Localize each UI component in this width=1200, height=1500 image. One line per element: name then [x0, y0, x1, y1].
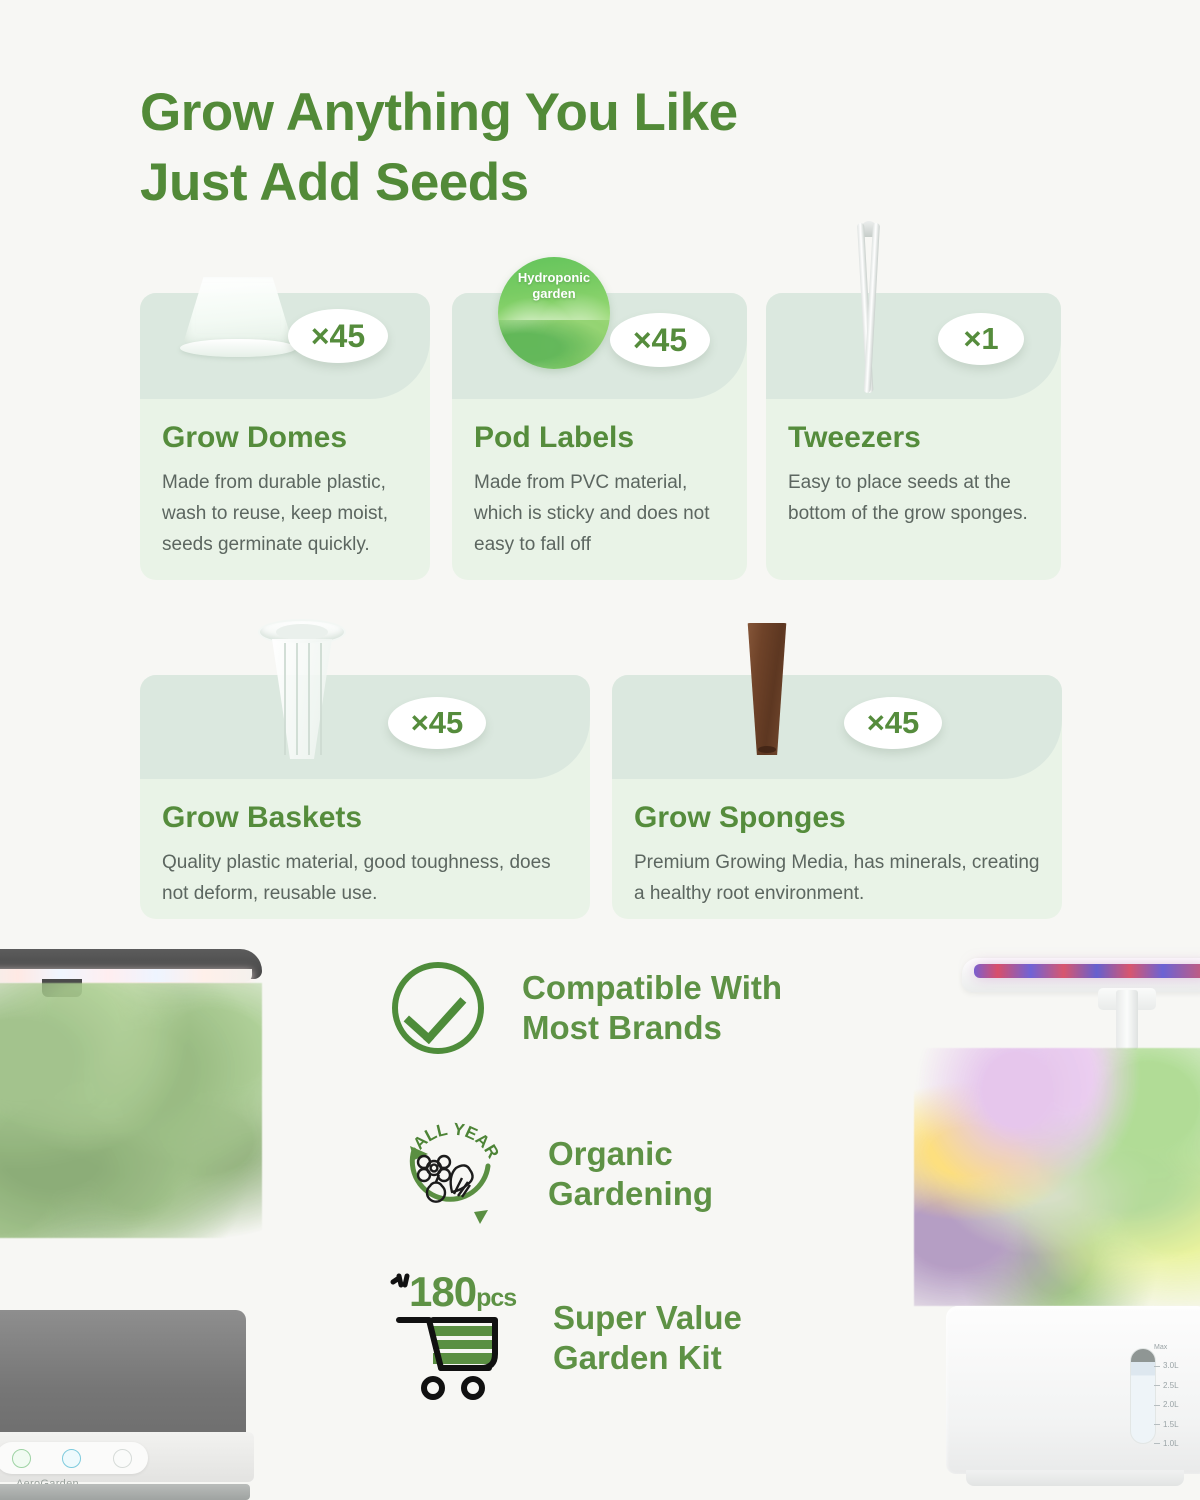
count-badge-label: ×45: [311, 318, 365, 355]
card-title: Grow Sponges: [634, 801, 1040, 834]
card-description: Made from PVC material, which is sticky …: [474, 468, 725, 560]
card-text-area: Grow Sponges Premium Growing Media, has …: [612, 801, 1062, 910]
gauge-tick-label: 2.5L: [1163, 1382, 1179, 1390]
card-pod-labels: Hydroponic garden ×45 Pod Labels Made fr…: [452, 293, 747, 580]
pod-label-icon: Hydroponic garden: [498, 257, 610, 369]
grow-dome-icon: [184, 277, 292, 351]
card-text-area: Tweezers Easy to place seeds at the bott…: [766, 421, 1061, 530]
benefit-label: Super Value Garden Kit: [553, 1298, 742, 1379]
benefit-organic: ALL YEAR Organic Gardening: [392, 1120, 713, 1228]
count-badge-label: ×45: [867, 705, 920, 741]
count-badge: ×1: [938, 313, 1024, 365]
pod-caption-line-2: garden: [532, 286, 575, 301]
count-badge: ×45: [288, 309, 388, 363]
shopping-cart-icon: 180pcs: [385, 1272, 515, 1404]
count-badge-label: ×45: [633, 322, 687, 359]
card-grow-domes: ×45 Grow Domes Made from durable plastic…: [140, 293, 430, 580]
grow-basket-icon: [258, 619, 346, 759]
control-panel[interactable]: [0, 1442, 148, 1474]
piece-count-number: 180: [409, 1268, 476, 1315]
benefit-super-value: 180pcs Super Value Garden Kit: [385, 1272, 742, 1404]
led-strip: [974, 964, 1200, 978]
count-badge: ×45: [844, 697, 942, 749]
gauge-tick-label: 1.0L: [1163, 1440, 1179, 1448]
card-tweezers: ×1 Tweezers Easy to place seeds at the b…: [766, 293, 1061, 580]
piece-count-unit: pcs: [476, 1284, 516, 1312]
card-title: Grow Baskets: [162, 801, 568, 834]
card-text-area: Pod Labels Made from PVC material, which…: [452, 421, 747, 560]
count-badge: ×45: [610, 313, 710, 367]
water-level-scale: Max 3.0L 2.5L 2.0L 1.5L 1.0L: [1154, 1344, 1198, 1448]
page-title: Grow Anything You Like Just Add Seeds: [140, 78, 1040, 218]
gauge-tick: 2.5L: [1154, 1382, 1198, 1390]
gauge-tick: 3.0L: [1154, 1362, 1198, 1370]
check-circle-icon: [392, 962, 484, 1054]
card-title: Tweezers: [788, 421, 1039, 454]
headline-line-2: Just Add Seeds: [140, 148, 1040, 218]
card-title: Pod Labels: [474, 421, 725, 454]
benefit-compatible: Compatible With Most Brands: [392, 962, 782, 1054]
pod-label-caption: Hydroponic garden: [498, 270, 610, 302]
all-year-organic-icon: ALL YEAR: [392, 1120, 510, 1228]
card-text-area: Grow Baskets Quality plastic material, g…: [140, 801, 590, 910]
water-drop-icon[interactable]: [62, 1449, 81, 1468]
product-photo-dark-unit: AeroGarden: [0, 935, 278, 1500]
card-description: Quality plastic material, good toughness…: [162, 848, 568, 910]
unit-foot: [0, 1484, 250, 1500]
card-description: Premium Growing Media, has minerals, cre…: [634, 848, 1040, 910]
lamp-stem: [1116, 990, 1138, 1050]
unit-foot: [966, 1470, 1184, 1486]
gauge-tick-label: 2.0L: [1163, 1401, 1179, 1409]
herb-plants: [914, 1048, 1200, 1306]
light-icon[interactable]: [113, 1449, 132, 1468]
card-text-area: Grow Domes Made from durable plastic, wa…: [140, 421, 430, 560]
card-description: Made from durable plastic, wash to reuse…: [162, 468, 408, 560]
unit-body: [0, 1310, 246, 1442]
led-strip: [0, 969, 252, 982]
infographic-page: Grow Anything You Like Just Add Seeds ×4…: [0, 0, 1200, 1500]
pod-caption-line-1: Hydroponic: [518, 270, 590, 285]
benefit-label: Organic Gardening: [548, 1134, 713, 1215]
card-media-area: [612, 675, 1062, 779]
tweezers-icon: [846, 223, 892, 393]
count-badge: ×45: [388, 697, 486, 749]
card-description: Easy to place seeds at the bottom of the…: [788, 468, 1039, 530]
piece-count-label: 180pcs: [409, 1268, 516, 1316]
water-level-gauge: [1130, 1348, 1156, 1444]
count-badge-label: ×45: [411, 705, 464, 741]
card-media-area: [140, 675, 590, 779]
card-grow-baskets: ×45 Grow Baskets Quality plastic materia…: [140, 675, 590, 919]
card-grow-sponges: ×45 Grow Sponges Premium Growing Media, …: [612, 675, 1062, 919]
gauge-tick-label: 1.5L: [1163, 1421, 1179, 1429]
card-title: Grow Domes: [162, 421, 408, 454]
count-badge-label: ×1: [963, 321, 998, 357]
gauge-tick: 2.0L: [1154, 1401, 1198, 1409]
headline-line-1: Grow Anything You Like: [140, 83, 738, 142]
nutrient-leaf-icon[interactable]: [12, 1449, 31, 1468]
herb-plants: [0, 983, 262, 1238]
gauge-tick: 1.0L: [1154, 1440, 1198, 1448]
gauge-tick: 1.5L: [1154, 1421, 1198, 1429]
gauge-max-label: Max: [1154, 1344, 1198, 1351]
product-photo-white-unit: Max 3.0L 2.5L 2.0L 1.5L 1.0L: [940, 940, 1200, 1500]
benefit-label: Compatible With Most Brands: [522, 968, 782, 1049]
gauge-tick-label: 3.0L: [1163, 1362, 1179, 1370]
